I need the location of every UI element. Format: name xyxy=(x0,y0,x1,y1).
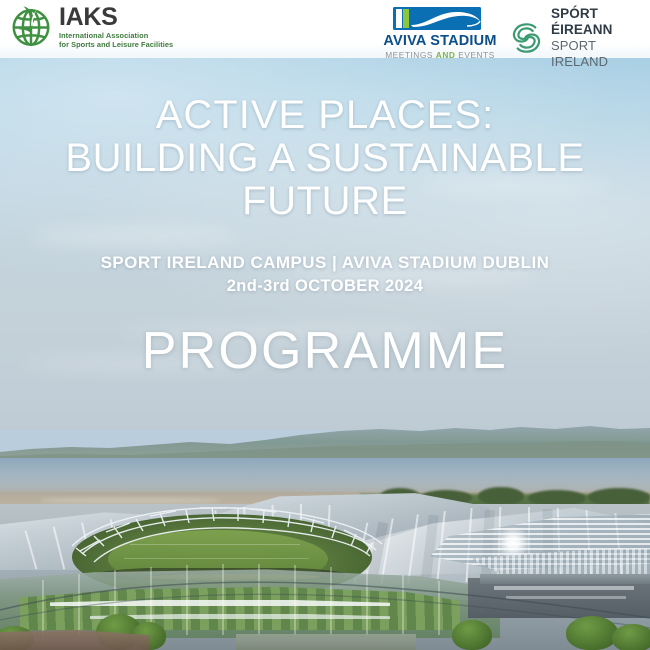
aviva-tagline: MEETINGS AND EVENTS xyxy=(381,50,499,60)
distant-hills xyxy=(0,418,650,462)
sport-ireland-wordmark-block: SPÓRT ÉIREANN SPORT IRELAND xyxy=(551,6,650,70)
page-title-line-1: ACTIVE PLACES: xyxy=(156,93,495,137)
aviva-stadium-logo[interactable]: AVIVA STADIUM MEETINGS AND EVENTS xyxy=(381,5,499,60)
sport-ireland-spiral-icon xyxy=(508,17,545,59)
sun-glare xyxy=(496,526,530,560)
iaks-wordmark-block: IAKS International Association for Sport… xyxy=(59,5,173,49)
document-label: PROGRAMME xyxy=(0,297,650,379)
sport-ireland-name-english: SPORT IRELAND xyxy=(551,38,650,70)
page-title: ACTIVE PLACES: BUILDING A SUSTAINABLE FU… xyxy=(0,58,650,223)
page-title-line-2: BUILDING A SUSTAINABLE FUTURE xyxy=(65,136,584,223)
hero-copy: ACTIVE PLACES: BUILDING A SUSTAINABLE FU… xyxy=(0,58,650,379)
logo-header-bar: IAKS International Association for Sport… xyxy=(0,0,650,58)
iaks-subtitle-line-2: for Sports and Leisure Facilities xyxy=(59,40,173,49)
event-dates: 2nd-3rd OCTOBER 2024 xyxy=(0,275,650,297)
sport-ireland-name-irish: SPÓRT ÉIREANN xyxy=(551,6,650,38)
aviva-stadium-name: AVIVA STADIUM xyxy=(381,33,499,49)
aviva-tagline-meetings: MEETINGS xyxy=(385,50,433,60)
conference-programme-cover: ACTIVE PLACES: BUILDING A SUSTAINABLE FU… xyxy=(0,0,650,650)
iaks-wordmark: IAKS xyxy=(59,5,173,30)
aviva-tagline-and: AND xyxy=(436,50,456,60)
iaks-logo[interactable]: IAKS International Association for Sport… xyxy=(8,3,173,50)
stadium-photograph xyxy=(0,418,650,650)
globe-icon xyxy=(8,3,54,50)
aviva-wave-icon xyxy=(381,5,499,32)
sport-ireland-logo[interactable]: SPÓRT ÉIREANN SPORT IRELAND xyxy=(508,6,650,70)
venue-line: SPORT IRELAND CAMPUS | AVIVA STADIUM DUB… xyxy=(0,223,650,275)
aviva-tagline-events: EVENTS xyxy=(458,50,495,60)
iaks-subtitle-line-1: International Association xyxy=(59,31,173,40)
